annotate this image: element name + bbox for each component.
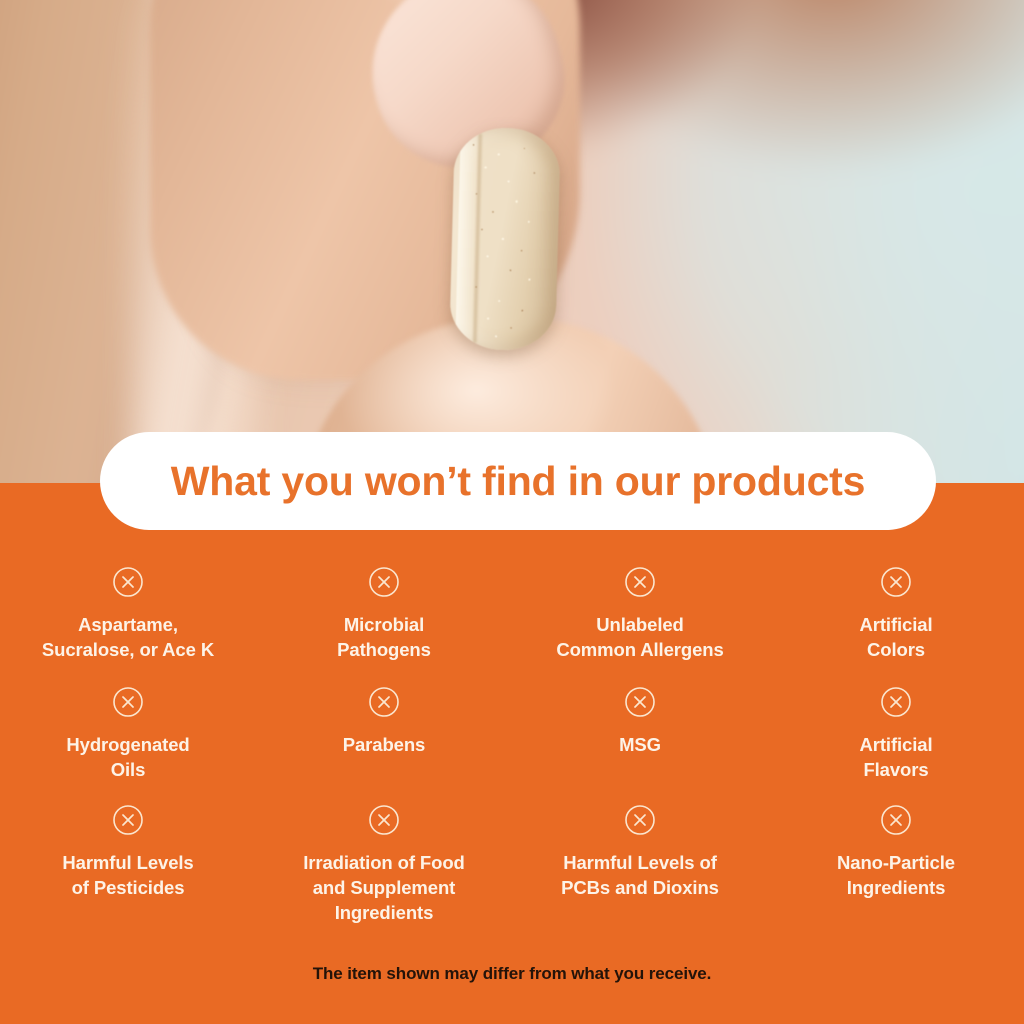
claim-label: Harmful Levels of PCBs and Dioxins [561,850,719,900]
claim-item: Aspartame, Sucralose, or Ace K [0,566,256,662]
circle-x-icon [368,686,400,732]
claims-row-1: Aspartame, Sucralose, or Ace KMicrobial … [0,566,1024,662]
claim-item: Hydrogenated Oils [0,686,256,782]
circle-x-icon [368,566,400,612]
disclaimer-note: The item shown may differ from what you … [0,964,1024,984]
title-banner: What you won’t find in our products [100,432,936,530]
claim-item: Unlabeled Common Allergens [512,566,768,662]
product-claims-graphic: What you won’t find in our products Aspa… [0,0,1024,1024]
claim-item: Parabens [256,686,512,782]
hero-photo [0,0,1024,484]
claim-label: Hydrogenated Oils [66,732,189,782]
claim-label: MSG [619,732,661,757]
circle-x-icon [624,686,656,732]
claim-item: Nano-Particle Ingredients [768,804,1024,925]
claim-label: Microbial Pathogens [337,612,431,662]
claim-label: Unlabeled Common Allergens [556,612,723,662]
circle-x-icon [112,804,144,850]
claim-item: Artificial Flavors [768,686,1024,782]
circle-x-icon [112,686,144,732]
circle-x-icon [624,566,656,612]
claim-label: Irradiation of Food and Supplement Ingre… [303,850,465,925]
title-part-2: find in our products [471,458,865,504]
circle-x-icon [880,804,912,850]
title-emphasis: won’t [365,458,471,504]
claim-label: Aspartame, Sucralose, or Ace K [42,612,214,662]
tablet-speckles [449,127,561,352]
claim-label: Artificial Colors [859,612,932,662]
circle-x-icon [624,804,656,850]
page-title: What you won’t find in our products [171,461,865,502]
circle-x-icon [368,804,400,850]
claim-item: Artificial Colors [768,566,1024,662]
supplement-tablet [449,127,561,352]
claim-item: Harmful Levels of PCBs and Dioxins [512,804,768,925]
circle-x-icon [112,566,144,612]
claim-item: Microbial Pathogens [256,566,512,662]
claim-label: Artificial Flavors [859,732,932,782]
claims-row-3: Harmful Levels of PesticidesIrradiation … [0,804,1024,925]
claim-item: Irradiation of Food and Supplement Ingre… [256,804,512,925]
circle-x-icon [880,566,912,612]
claim-item: MSG [512,686,768,782]
title-part-1: What you [171,458,365,504]
circle-x-icon [880,686,912,732]
claim-item: Harmful Levels of Pesticides [0,804,256,925]
claims-row-2: Hydrogenated OilsParabensMSGArtificial F… [0,686,1024,782]
claim-label: Parabens [343,732,426,757]
claim-label: Nano-Particle Ingredients [837,850,955,900]
claim-label: Harmful Levels of Pesticides [62,850,193,900]
